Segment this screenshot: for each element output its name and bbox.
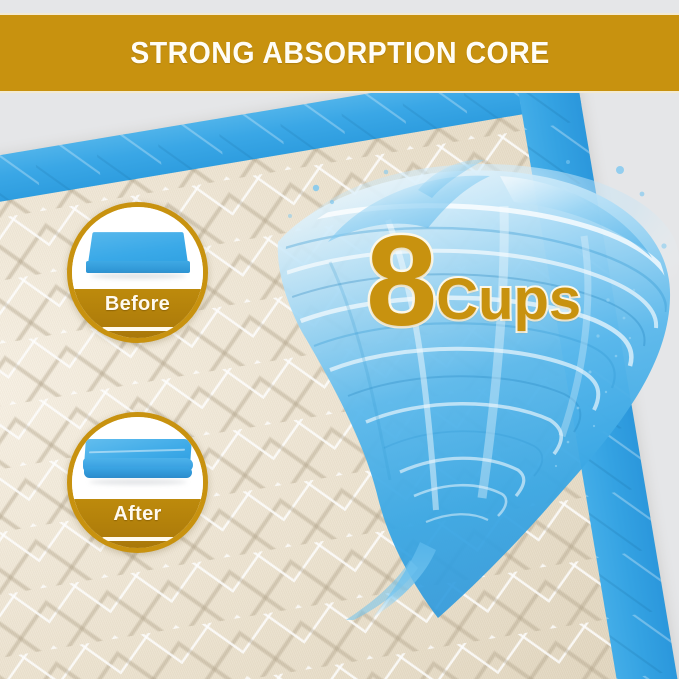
badge-before-photo (72, 207, 203, 299)
product-feature-image: 8 Cups Before After (0, 0, 679, 679)
badge-after[interactable]: After (67, 412, 208, 553)
folded-pad-shadow (89, 479, 187, 485)
flat-pad-icon (86, 227, 190, 279)
header-banner: STRONG ABSORPTION CORE (0, 13, 679, 93)
badge-after-photo (72, 417, 203, 509)
badge-after-label: After (113, 503, 161, 526)
badge-after-band: After (72, 499, 203, 548)
pad-body (0, 93, 679, 679)
badge-before-underline (102, 327, 174, 331)
badge-before[interactable]: Before (67, 202, 208, 343)
folded-pad-layer-bottom (84, 467, 192, 478)
flat-pad-underside (86, 261, 190, 273)
badge-after-underline (102, 537, 174, 541)
pee-pad-photo (0, 93, 679, 679)
badge-before-band: Before (72, 289, 203, 338)
folded-pad-icon (83, 439, 193, 487)
badge-before-label: Before (105, 293, 170, 316)
page-title: STRONG ABSORPTION CORE (130, 35, 549, 71)
flat-pad-shadow (90, 273, 186, 279)
